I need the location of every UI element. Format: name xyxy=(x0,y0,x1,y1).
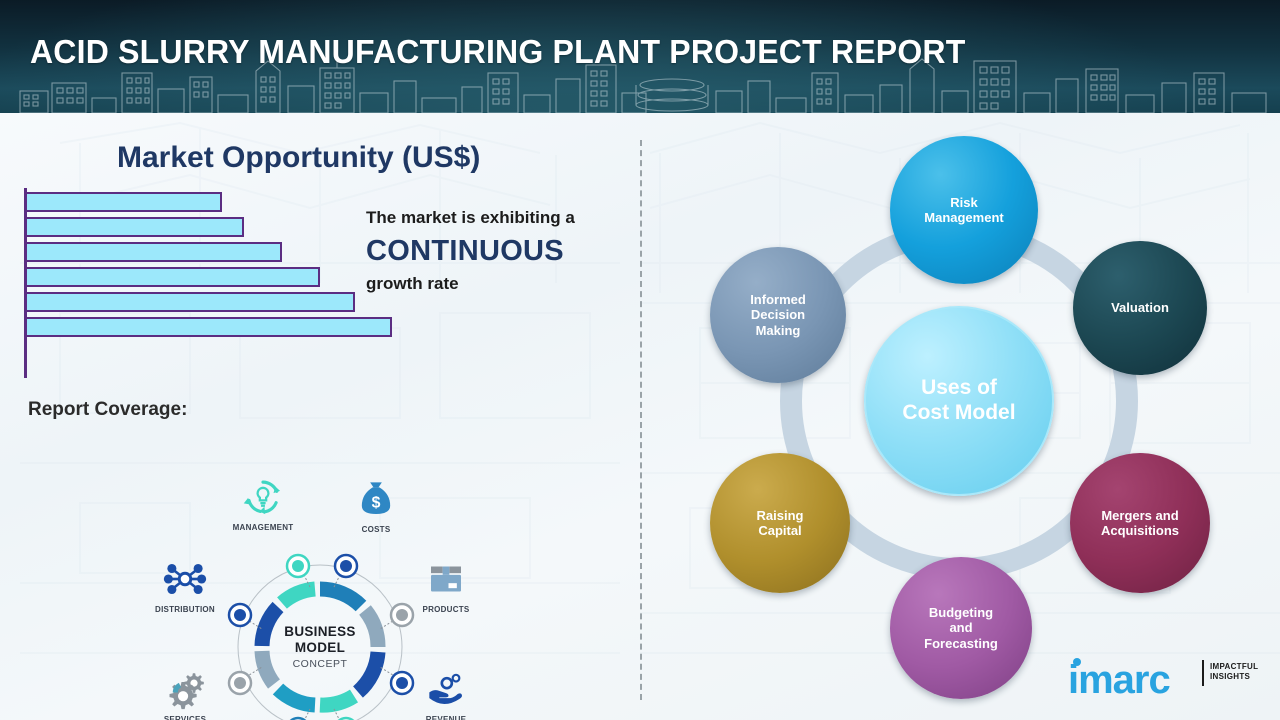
report-coverage-cluster: BUSINESS MODEL CONCEPT xyxy=(140,443,500,713)
logo-separator xyxy=(1202,660,1204,686)
chart-bar xyxy=(27,217,244,237)
callout-line-3: growth rate xyxy=(366,273,636,295)
business-model-wheel: BUSINESS MODEL CONCEPT xyxy=(220,547,420,720)
coverage-label-revenue: REVENUE xyxy=(398,715,494,720)
slide-header: ACID SLURRY MANUFACTURING PLANT PROJECT … xyxy=(0,0,1280,113)
node-raising-capital[interactable]: Raising Capital xyxy=(710,453,850,593)
slide: ACID SLURRY MANUFACTURING PLANT PROJECT … xyxy=(0,0,1280,720)
left-panel: Market Opportunity (US$) The market is e… xyxy=(0,113,640,720)
coverage-item-distribution: DISTRIBUTION xyxy=(137,555,233,614)
coverage-label-distribution: DISTRIBUTION xyxy=(137,605,233,614)
center-node-line-2: Cost Model xyxy=(896,401,1021,426)
node-label-valuation: Valuation xyxy=(1105,300,1175,315)
node-valuation[interactable]: Valuation xyxy=(1073,241,1207,375)
recycle-lightbulb-icon xyxy=(215,473,311,521)
node-informed-decision-making[interactable]: Informed Decision Making xyxy=(710,247,846,383)
chart-bar xyxy=(27,317,392,337)
coverage-item-costs: $ COSTS xyxy=(328,475,424,534)
svg-text:imarc: imarc xyxy=(1068,658,1170,698)
market-opportunity-heading: Market Opportunity (US$) xyxy=(117,141,480,175)
chart-bar xyxy=(27,292,355,312)
product-box-icon xyxy=(398,555,494,603)
chart-bar xyxy=(27,267,320,287)
hand-coins-icon xyxy=(398,665,494,713)
svg-text:$: $ xyxy=(372,494,381,511)
growth-callout: The market is exhibiting a CONTINUOUS gr… xyxy=(366,207,636,295)
imarc-logo: imarc IMPACTFUL INSIGHTS xyxy=(1068,652,1266,702)
coverage-label-costs: COSTS xyxy=(328,525,424,534)
right-panel: Uses of Cost Model Risk Management Valua… xyxy=(640,113,1280,720)
coverage-item-management: MANAGEMENT xyxy=(215,473,311,532)
center-node-line-1: Uses of xyxy=(896,376,1021,401)
coverage-label-management: MANAGEMENT xyxy=(215,523,311,532)
logo-tagline: IMPACTFUL INSIGHTS xyxy=(1210,662,1258,682)
imarc-wordmark-icon: imarc xyxy=(1068,656,1200,698)
node-risk-management[interactable]: Risk Management xyxy=(890,136,1038,284)
callout-line-2: CONTINUOUS xyxy=(366,229,636,273)
logo-tagline-line-1: IMPACTFUL xyxy=(1210,662,1258,672)
coverage-label-services: SERVICES xyxy=(137,715,233,720)
node-label-budgeting-forecasting: Budgeting and Forecasting xyxy=(918,605,1004,651)
gears-icon xyxy=(137,665,233,713)
callout-line-1: The market is exhibiting a xyxy=(366,207,636,229)
network-nodes-icon xyxy=(137,555,233,603)
logo-tagline-line-2: INSIGHTS xyxy=(1210,672,1258,682)
center-node-uses-of-cost-model[interactable]: Uses of Cost Model xyxy=(864,306,1054,496)
node-label-mergers-acquisitions: Mergers and Acquisitions xyxy=(1095,508,1185,539)
money-bag-icon: $ xyxy=(328,475,424,523)
node-budgeting-forecasting[interactable]: Budgeting and Forecasting xyxy=(890,557,1032,699)
chart-bar xyxy=(27,242,282,262)
coverage-label-products: PRODUCTS xyxy=(398,605,494,614)
report-coverage-label: Report Coverage: xyxy=(28,399,187,421)
coverage-item-services: SERVICES xyxy=(137,665,233,720)
chart-bar xyxy=(27,192,222,212)
node-label-informed-decision-making: Informed Decision Making xyxy=(744,292,812,338)
node-mergers-acquisitions[interactable]: Mergers and Acquisitions xyxy=(1070,453,1210,593)
business-model-ring-icon xyxy=(220,547,420,720)
node-label-risk-management: Risk Management xyxy=(918,195,1009,226)
chart-bars xyxy=(27,192,392,342)
node-label-raising-capital: Raising Capital xyxy=(751,508,810,539)
market-opportunity-bar-chart xyxy=(24,188,424,298)
coverage-item-products: PRODUCTS xyxy=(398,555,494,614)
coverage-item-revenue: REVENUE xyxy=(398,665,494,720)
page-title: ACID SLURRY MANUFACTURING PLANT PROJECT … xyxy=(30,33,965,71)
